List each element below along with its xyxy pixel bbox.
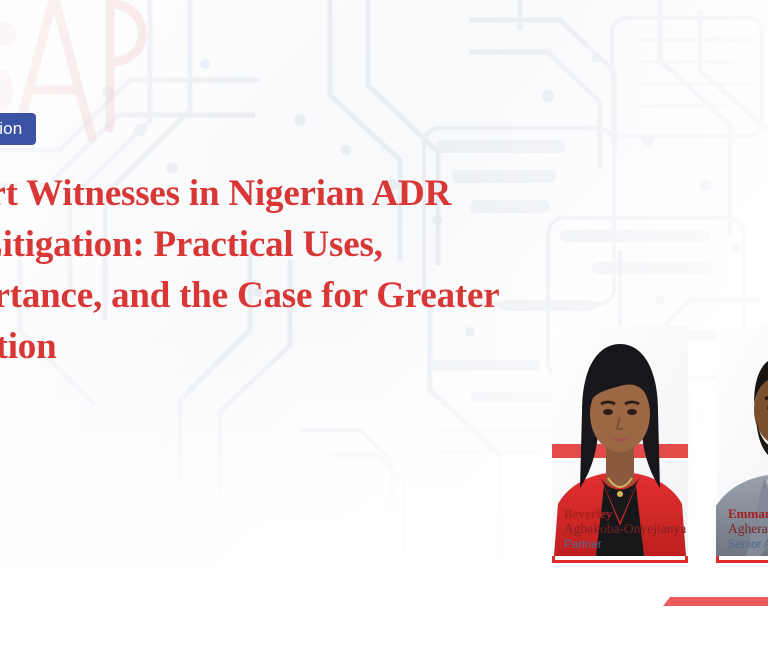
page-title: Expert Witnesses in Nigerian ADR and Lit… bbox=[0, 168, 620, 372]
speaker-last-name: Agbakoba-Onyejianya bbox=[564, 521, 679, 537]
publication-banner: Publication Expert Witnesses in Nigerian… bbox=[0, 0, 768, 650]
speaker-last-name: Agherario bbox=[728, 521, 768, 537]
speaker-card: Beverley Agbakoba-Onyejianya Partner bbox=[552, 413, 688, 563]
category-badge: Publication bbox=[0, 113, 36, 145]
speaker-caption: Beverley Agbakoba-Onyejianya Partner bbox=[564, 507, 679, 553]
speaker-card: Emmanuel Agherario Senior Associate bbox=[716, 413, 768, 563]
speaker-role: Partner bbox=[564, 538, 679, 553]
page-title-line-4: Adoption bbox=[0, 321, 620, 372]
speaker-first-name: Emmanuel bbox=[728, 507, 768, 521]
speaker-first-name: Beverley bbox=[564, 507, 679, 521]
speaker-role: Senior Associate bbox=[728, 538, 768, 553]
accent-bar bbox=[663, 597, 768, 606]
page-title-line-1: Expert Witnesses in Nigerian ADR bbox=[0, 168, 620, 219]
page-title-line-3: Importance, and the Case for Greater bbox=[0, 270, 620, 321]
speaker-caption: Emmanuel Agherario Senior Associate bbox=[728, 507, 768, 553]
page-title-line-2: and Litigation: Practical Uses, bbox=[0, 219, 620, 270]
